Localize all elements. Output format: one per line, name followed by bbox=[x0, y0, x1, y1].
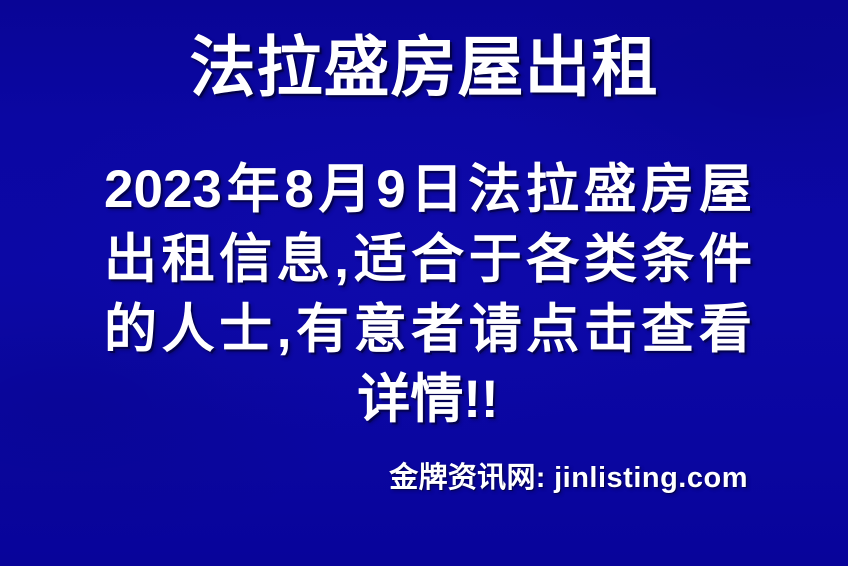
footer-credit: 金牌资讯网: jinlisting.com bbox=[0, 460, 848, 496]
publisher-name: 金牌资讯网: bbox=[389, 462, 545, 494]
ad-body-line-3: 的人士,有意者请点击查看 bbox=[104, 295, 752, 365]
ad-body-line-4: 详情!! bbox=[104, 365, 752, 435]
rental-ad-poster: 法拉盛房屋出租 2023年8月9日法拉盛房屋 出租信息,适合于各类条件 的人士,… bbox=[0, 0, 848, 566]
ad-body-line-2: 出租信息,适合于各类条件 bbox=[104, 225, 752, 295]
ad-body-text: 2023年8月9日法拉盛房屋 出租信息,适合于各类条件 的人士,有意者请点击查看… bbox=[104, 155, 752, 435]
page-title: 法拉盛房屋出租 bbox=[0, 28, 848, 106]
website-url[interactable]: jinlisting.com bbox=[554, 462, 748, 494]
ad-body-line-1: 2023年8月9日法拉盛房屋 bbox=[104, 155, 752, 225]
